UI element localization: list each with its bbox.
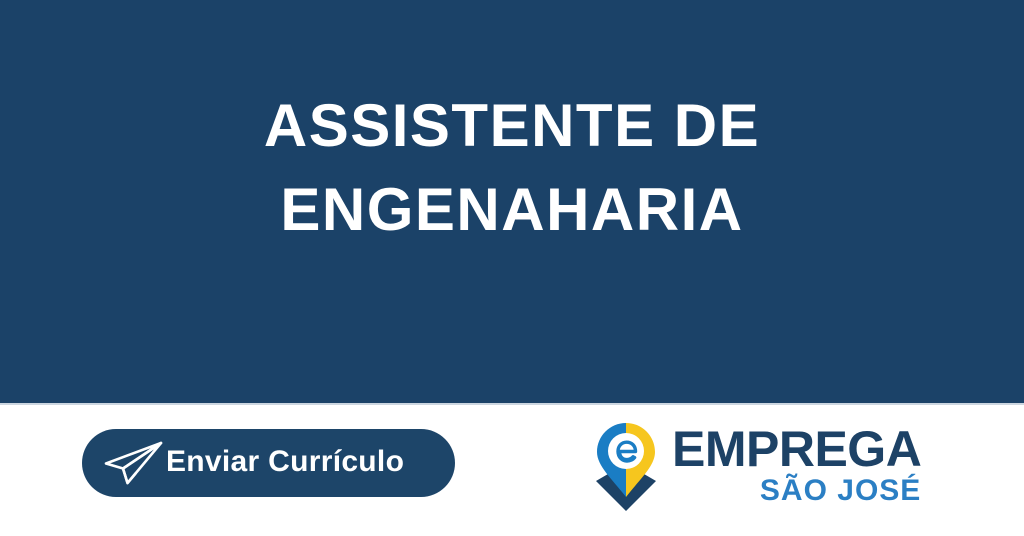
map-pin-e-icon bbox=[592, 421, 660, 519]
emprega-sao-jose-logo[interactable]: EMPREGA SÃO JOSÉ bbox=[592, 417, 922, 525]
logo-main-text: EMPREGA bbox=[672, 425, 921, 473]
page-title-line-2: ENGENAHARIA bbox=[0, 168, 1024, 252]
job-posting-card: ASSISTENTE DE ENGENAHARIA Enviar Currícu… bbox=[0, 0, 1024, 536]
paper-plane-icon bbox=[100, 439, 166, 487]
footer-bar: Enviar Currículo EMPREGA bbox=[0, 405, 1024, 536]
page-title: ASSISTENTE DE ENGENAHARIA bbox=[0, 84, 1024, 252]
logo-wordmark: EMPREGA SÃO JOSÉ bbox=[672, 417, 921, 507]
page-title-line-1: ASSISTENTE DE bbox=[0, 84, 1024, 168]
hero-banner: ASSISTENTE DE ENGENAHARIA bbox=[0, 0, 1024, 403]
send-resume-button[interactable]: Enviar Currículo bbox=[82, 429, 455, 497]
logo-sub-text: SÃO JOSÉ bbox=[760, 475, 921, 507]
send-resume-label: Enviar Currículo bbox=[166, 447, 404, 479]
